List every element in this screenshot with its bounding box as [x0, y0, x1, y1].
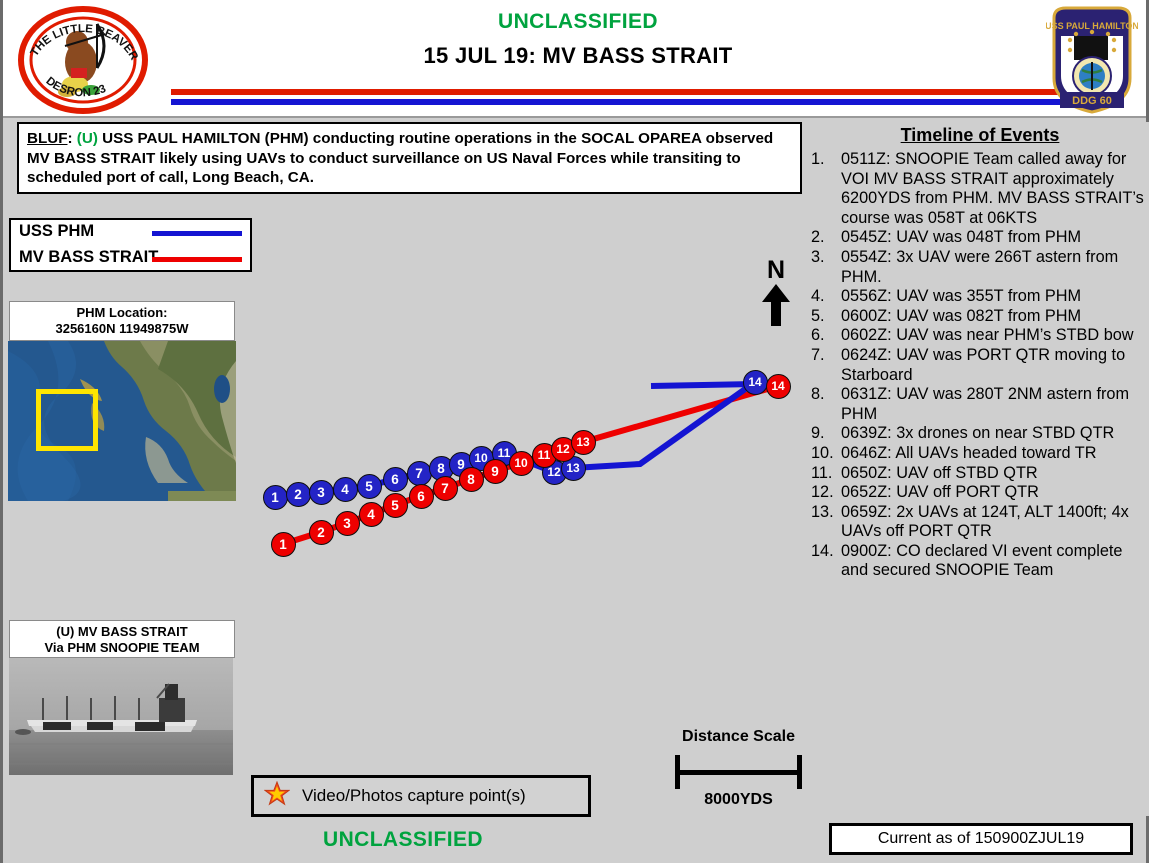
phm-track-marker[interactable]: 7: [407, 461, 432, 486]
phm-location-title: PHM Location:: [10, 305, 234, 321]
video-capture-legend: Video/Photos capture point(s): [251, 775, 591, 817]
north-label: N: [755, 258, 797, 282]
timeline-item: 3.0554Z: 3x UAV were 266T astern from PH…: [811, 248, 1149, 287]
scale-tick-right: [797, 755, 802, 789]
timeline-item-text: 0624Z: UAV was PORT QTR moving to Starbo…: [841, 346, 1125, 384]
footer-classification: UNCLASSIFIED: [323, 828, 483, 851]
header-title-block: UNCLASSIFIED 15 JUL 19: MV BASS STRAIT: [163, 10, 993, 69]
phm-track-marker[interactable]: 1: [263, 485, 288, 510]
timeline-item-text: 0556Z: UAV was 355T from PHM: [841, 287, 1081, 305]
phm-track-marker[interactable]: 5: [357, 474, 382, 499]
distance-scale: Distance Scale 8000YDS: [671, 728, 806, 810]
bass-strait-track-marker[interactable]: 14: [766, 374, 791, 399]
bluf-panel: BLUF: (U) USS PAUL HAMILTON (PHM) conduc…: [17, 122, 802, 194]
track-legend: USS PHM MV BASS STRAIT: [9, 218, 252, 272]
timeline-item-number: 7.: [811, 346, 838, 366]
phm-location-coords: 3256160N 11949875W: [10, 321, 234, 337]
timeline-item-number: 8.: [811, 385, 838, 405]
bass-strait-track-marker[interactable]: 6: [409, 484, 434, 509]
bass-strait-track-marker[interactable]: 8: [459, 467, 484, 492]
bluf-label: BLUF: [27, 130, 68, 147]
page-title: 15 JUL 19: MV BASS STRAIT: [163, 43, 993, 69]
bass-strait-track-marker[interactable]: 2: [309, 520, 334, 545]
svg-text:DDG 60: DDG 60: [1072, 95, 1112, 107]
timeline-item: 2.0545Z: UAV was 048T from PHM: [811, 228, 1149, 248]
legend-swatch-phm: [152, 231, 242, 236]
timeline-item: 1.0511Z: SNOOPIE Team called away for VO…: [811, 150, 1149, 228]
timeline-panel: Timeline of Events 1.0511Z: SNOOPIE Team…: [811, 122, 1149, 816]
timeline-item-text: 0900Z: CO declared VI event complete and…: [841, 542, 1122, 580]
distance-scale-bar: [671, 755, 806, 789]
north-arrow: N: [755, 258, 797, 331]
timeline-item-text: 0545Z: UAV was 048T from PHM: [841, 228, 1081, 246]
video-capture-legend-label: Video/Photos capture point(s): [302, 786, 526, 806]
timeline-item-number: 13.: [811, 503, 840, 523]
phm-track-marker[interactable]: 4: [333, 477, 358, 502]
star-icon: [264, 781, 290, 812]
legend-label-bass-strait: MV BASS STRAIT: [19, 248, 158, 267]
bass-strait-track-marker[interactable]: 13: [571, 430, 596, 455]
bluf-text: USS PAUL HAMILTON (PHM) conducting routi…: [27, 130, 773, 186]
timeline-item-number: 4.: [811, 287, 838, 307]
bass-strait-track-marker[interactable]: 7: [433, 476, 458, 501]
timeline-item-text: 0602Z: UAV was near PHM’s STBD bow: [841, 326, 1134, 344]
mv-bass-strait-photo: [9, 658, 233, 775]
timeline-item-number: 3.: [811, 248, 838, 268]
phm-location-box: PHM Location: 3256160N 11949875W: [9, 301, 235, 341]
bass-strait-track-marker[interactable]: 1: [271, 532, 296, 557]
uss-paul-hamilton-crest-icon: USS PAUL HAMILTON DDG 60: [1046, 4, 1138, 116]
ship-photo-caption-line1: (U) MV BASS STRAIT: [10, 624, 234, 640]
timeline-item-number: 10.: [811, 444, 840, 464]
timeline-item-text: 0639Z: 3x drones on near STBD QTR: [841, 424, 1114, 442]
header-rule-bars: [171, 89, 1063, 105]
timeline-item-text: 0511Z: SNOOPIE Team called away for VOI …: [841, 150, 1144, 227]
legend-label-phm: USS PHM: [19, 222, 94, 241]
slide-header: THE LITTLE BEAVERS DESRON 23 UNCLASSIFIE…: [3, 0, 1146, 118]
current-as-of-box: Current as of 150900ZJUL19: [829, 823, 1133, 855]
bass-strait-track-marker[interactable]: 9: [483, 459, 508, 484]
timeline-title: Timeline of Events: [811, 125, 1149, 146]
bass-strait-track-marker[interactable]: 5: [383, 493, 408, 518]
timeline-item-text: 0631Z: UAV was 280T 2NM astern from PHM: [841, 385, 1129, 423]
phm-track-marker[interactable]: 2: [286, 482, 311, 507]
timeline-item-number: 6.: [811, 326, 838, 346]
header-blue-bar: [171, 99, 1063, 105]
timeline-item-number: 9.: [811, 424, 838, 444]
desron-23-crest-icon: THE LITTLE BEAVERS DESRON 23: [13, 6, 153, 114]
svg-text:USS PAUL HAMILTON: USS PAUL HAMILTON: [1046, 21, 1138, 31]
area-of-interest-box: [36, 389, 98, 451]
socal-satellite-inset: [8, 341, 236, 501]
timeline-item-text: 0650Z: UAV off STBD QTR: [841, 464, 1038, 482]
distance-scale-title: Distance Scale: [671, 728, 806, 746]
legend-swatch-bass-strait: [152, 257, 242, 262]
timeline-list: 1.0511Z: SNOOPIE Team called away for VO…: [811, 150, 1149, 581]
timeline-item-text: 0652Z: UAV off PORT QTR: [841, 483, 1039, 501]
timeline-item-text: 0600Z: UAV was 082T from PHM: [841, 307, 1081, 325]
bluf-marking: (U): [77, 130, 98, 147]
phm-track-marker[interactable]: 14: [743, 370, 768, 395]
header-classification: UNCLASSIFIED: [163, 10, 993, 34]
bass-strait-track-marker[interactable]: 3: [335, 511, 360, 536]
timeline-item-number: 14.: [811, 542, 840, 562]
timeline-item-number: 5.: [811, 307, 838, 327]
timeline-item: 12.0652Z: UAV off PORT QTR: [811, 483, 1149, 503]
distance-scale-value: 8000YDS: [671, 791, 806, 809]
ship-photo-caption-line2: Via PHM SNOOPIE TEAM: [10, 640, 234, 656]
timeline-item: 8.0631Z: UAV was 280T 2NM astern from PH…: [811, 385, 1149, 424]
timeline-item: 7.0624Z: UAV was PORT QTR moving to Star…: [811, 346, 1149, 385]
phm-track-marker[interactable]: 3: [309, 480, 334, 505]
bass-strait-track-marker[interactable]: 4: [359, 502, 384, 527]
current-as-of-text: Current as of 150900ZJUL19: [878, 830, 1084, 847]
timeline-item-number: 2.: [811, 228, 838, 248]
bass-strait-track-marker[interactable]: 10: [509, 451, 534, 476]
footer-classification-block: UNCLASSIFIED: [163, 828, 643, 852]
ship-photo-caption: (U) MV BASS STRAIT Via PHM SNOOPIE TEAM: [9, 620, 235, 658]
north-arrow-icon: [755, 282, 797, 326]
timeline-item: 6.0602Z: UAV was near PHM’s STBD bow: [811, 326, 1149, 346]
timeline-item-number: 12.: [811, 483, 840, 503]
timeline-item-number: 1.: [811, 150, 838, 170]
phm-approach-line: [651, 384, 755, 386]
timeline-item: 10.0646Z: All UAVs headed toward TR: [811, 444, 1149, 464]
timeline-item-text: 0659Z: 2x UAVs at 124T, ALT 1400ft; 4x U…: [841, 503, 1129, 541]
scale-line: [675, 770, 802, 775]
timeline-item-text: 0554Z: 3x UAV were 266T astern from PHM.: [841, 248, 1118, 286]
header-red-bar: [171, 89, 1063, 95]
phm-track-marker[interactable]: 6: [383, 467, 408, 492]
timeline-item: 4.0556Z: UAV was 355T from PHM: [811, 287, 1149, 307]
legend-row-bass-strait: MV BASS STRAIT: [11, 248, 250, 272]
timeline-item-text: 0646Z: All UAVs headed toward TR: [841, 444, 1097, 462]
timeline-item: 13.0659Z: 2x UAVs at 124T, ALT 1400ft; 4…: [811, 503, 1149, 542]
timeline-item: 5.0600Z: UAV was 082T from PHM: [811, 307, 1149, 327]
timeline-item: 14.0900Z: CO declared VI event complete …: [811, 542, 1149, 581]
timeline-item: 9.0639Z: 3x drones on near STBD QTR: [811, 424, 1149, 444]
timeline-item-number: 11.: [811, 464, 840, 484]
timeline-item: 11.0650Z: UAV off STBD QTR: [811, 464, 1149, 484]
legend-row-phm: USS PHM: [11, 222, 250, 246]
slide-canvas: THE LITTLE BEAVERS DESRON 23 UNCLASSIFIE…: [0, 0, 1149, 863]
